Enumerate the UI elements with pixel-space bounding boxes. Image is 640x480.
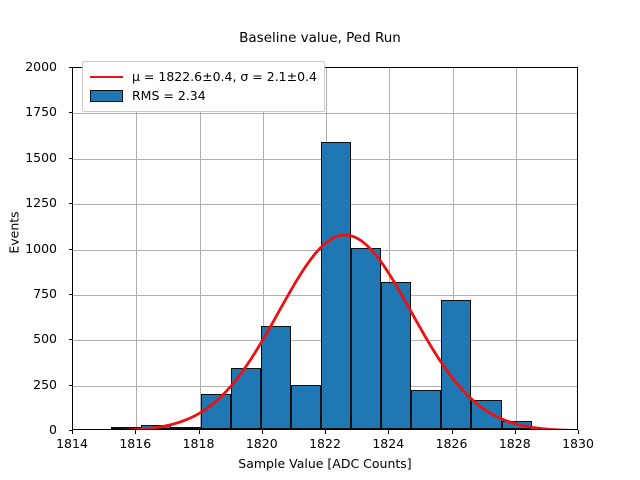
y-tick-mark xyxy=(69,249,73,250)
gaussian-fit-curve xyxy=(73,68,578,430)
y-tick-label: 250 xyxy=(0,377,62,392)
x-tick-mark xyxy=(325,430,326,434)
y-tick-label: 2000 xyxy=(0,59,62,74)
legend: μ = 1822.6±0.4, σ = 2.1±0.4 RMS = 2.34 xyxy=(82,61,325,112)
x-tick-label: 1818 xyxy=(169,436,229,451)
legend-entry-rms: RMS = 2.34 xyxy=(90,86,317,105)
y-tick-label: 0 xyxy=(0,422,62,437)
y-tick-mark xyxy=(69,112,73,113)
legend-entry-fit: μ = 1822.6±0.4, σ = 2.1±0.4 xyxy=(90,67,317,86)
legend-label-rms: RMS = 2.34 xyxy=(132,88,206,103)
x-tick-label: 1826 xyxy=(422,436,482,451)
x-tick-mark xyxy=(135,430,136,434)
legend-label-fit: μ = 1822.6±0.4, σ = 2.1±0.4 xyxy=(132,69,317,84)
y-tick-mark xyxy=(69,339,73,340)
x-tick-label: 1824 xyxy=(358,436,418,451)
x-tick-label: 1816 xyxy=(105,436,165,451)
plot-axes xyxy=(72,67,578,430)
x-tick-mark xyxy=(452,430,453,434)
line-swatch-icon xyxy=(90,76,123,78)
x-tick-mark xyxy=(262,430,263,434)
x-tick-mark xyxy=(199,430,200,434)
y-tick-mark xyxy=(69,158,73,159)
x-tick-label: 1830 xyxy=(548,436,608,451)
x-tick-label: 1820 xyxy=(232,436,292,451)
y-tick-mark xyxy=(69,430,73,431)
x-tick-label: 1814 xyxy=(42,436,102,451)
y-axis-label: Events xyxy=(7,143,22,323)
y-tick-mark xyxy=(69,385,73,386)
y-tick-label: 1750 xyxy=(0,104,62,119)
x-tick-mark xyxy=(72,430,73,434)
patch-swatch-icon xyxy=(90,90,123,102)
chart-title: Baseline value, Ped Run xyxy=(0,30,640,46)
y-tick-mark xyxy=(69,294,73,295)
x-tick-label: 1828 xyxy=(485,436,545,451)
y-tick-label: 500 xyxy=(0,331,62,346)
x-axis-label: Sample Value [ADC Counts] xyxy=(72,456,578,471)
y-tick-mark xyxy=(69,203,73,204)
x-tick-label: 1822 xyxy=(295,436,355,451)
x-tick-mark xyxy=(515,430,516,434)
x-tick-mark xyxy=(578,430,579,434)
x-tick-mark xyxy=(388,430,389,434)
matplotlib-figure: Baseline value, Ped Run 1814181618181820… xyxy=(0,0,640,480)
y-tick-mark xyxy=(69,67,73,68)
